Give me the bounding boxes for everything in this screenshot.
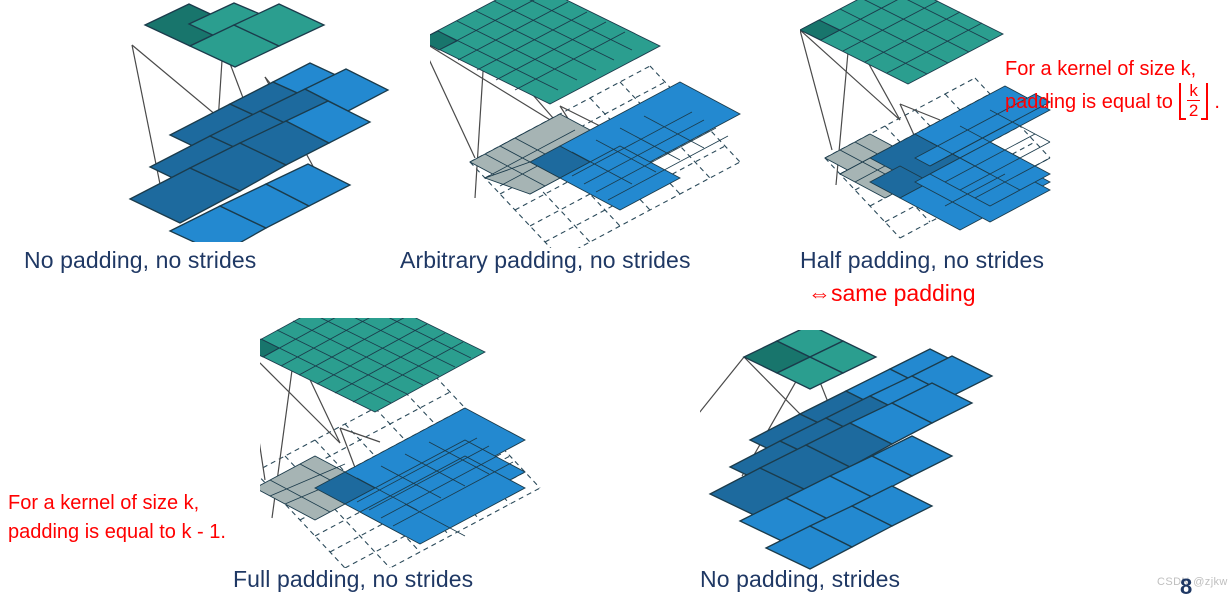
watermark-csdn: CSDN @zjkw [1157, 576, 1228, 588]
floor-bar-right [1201, 83, 1208, 120]
note-half-padding-line2-prefix: padding is equal to [1005, 88, 1173, 117]
fraction-numerator: k [1187, 82, 1200, 101]
note-full-padding-line2: padding is equal to k - 1. [8, 518, 226, 547]
panel-full-padding-no-strides [260, 318, 680, 568]
output-grid [744, 330, 876, 389]
note-half-padding: For a kernel of size k, padding is equal… [1005, 55, 1220, 121]
input-grid [260, 408, 525, 544]
slide-canvas: No padding, no strides [0, 0, 1232, 601]
caption-full-padding-no-strides: Full padding, no strides [233, 566, 473, 593]
page-number: 8 [1180, 574, 1192, 600]
input-grid [710, 349, 992, 569]
panel-arbitrary-padding-no-strides [430, 0, 750, 248]
floor-bar-left [1179, 83, 1186, 120]
input-grid [114, 63, 388, 242]
panel-no-padding-strides [700, 330, 1020, 570]
caption-half-padding-no-strides: Half padding, no strides [800, 247, 1044, 274]
note-half-padding-line2-suffix: . [1214, 88, 1220, 117]
fraction-denominator: 2 [1187, 101, 1200, 119]
output-grid [260, 318, 485, 412]
output-grid [430, 0, 660, 104]
caption-no-padding-no-strides: No padding, no strides [24, 247, 256, 274]
note-full-padding-line1: For a kernel of size k, [8, 489, 226, 518]
figure-full-padding-no-strides [260, 318, 680, 568]
fraction-k-over-2: k 2 [1187, 82, 1200, 119]
output-grid [145, 3, 324, 67]
caption-half-padding-sub: ⇔same padding [808, 280, 976, 307]
note-full-padding: For a kernel of size k, padding is equal… [8, 489, 226, 547]
caption-no-padding-strides: No padding, strides [700, 566, 900, 593]
figure-no-padding-no-strides [110, 2, 400, 242]
note-half-padding-line1: For a kernel of size k, [1005, 55, 1220, 84]
figure-arbitrary-padding-no-strides [430, 0, 750, 248]
caption-arbitrary-padding-no-strides: Arbitrary padding, no strides [400, 247, 691, 274]
floor-function-notation: k 2 [1179, 83, 1208, 120]
figure-half-padding-no-strides [800, 0, 1100, 250]
output-grid [800, 0, 1003, 84]
panel-half-padding-no-strides [800, 0, 1100, 250]
panel-no-padding-no-strides [110, 2, 400, 242]
figure-no-padding-strides [700, 330, 1020, 570]
